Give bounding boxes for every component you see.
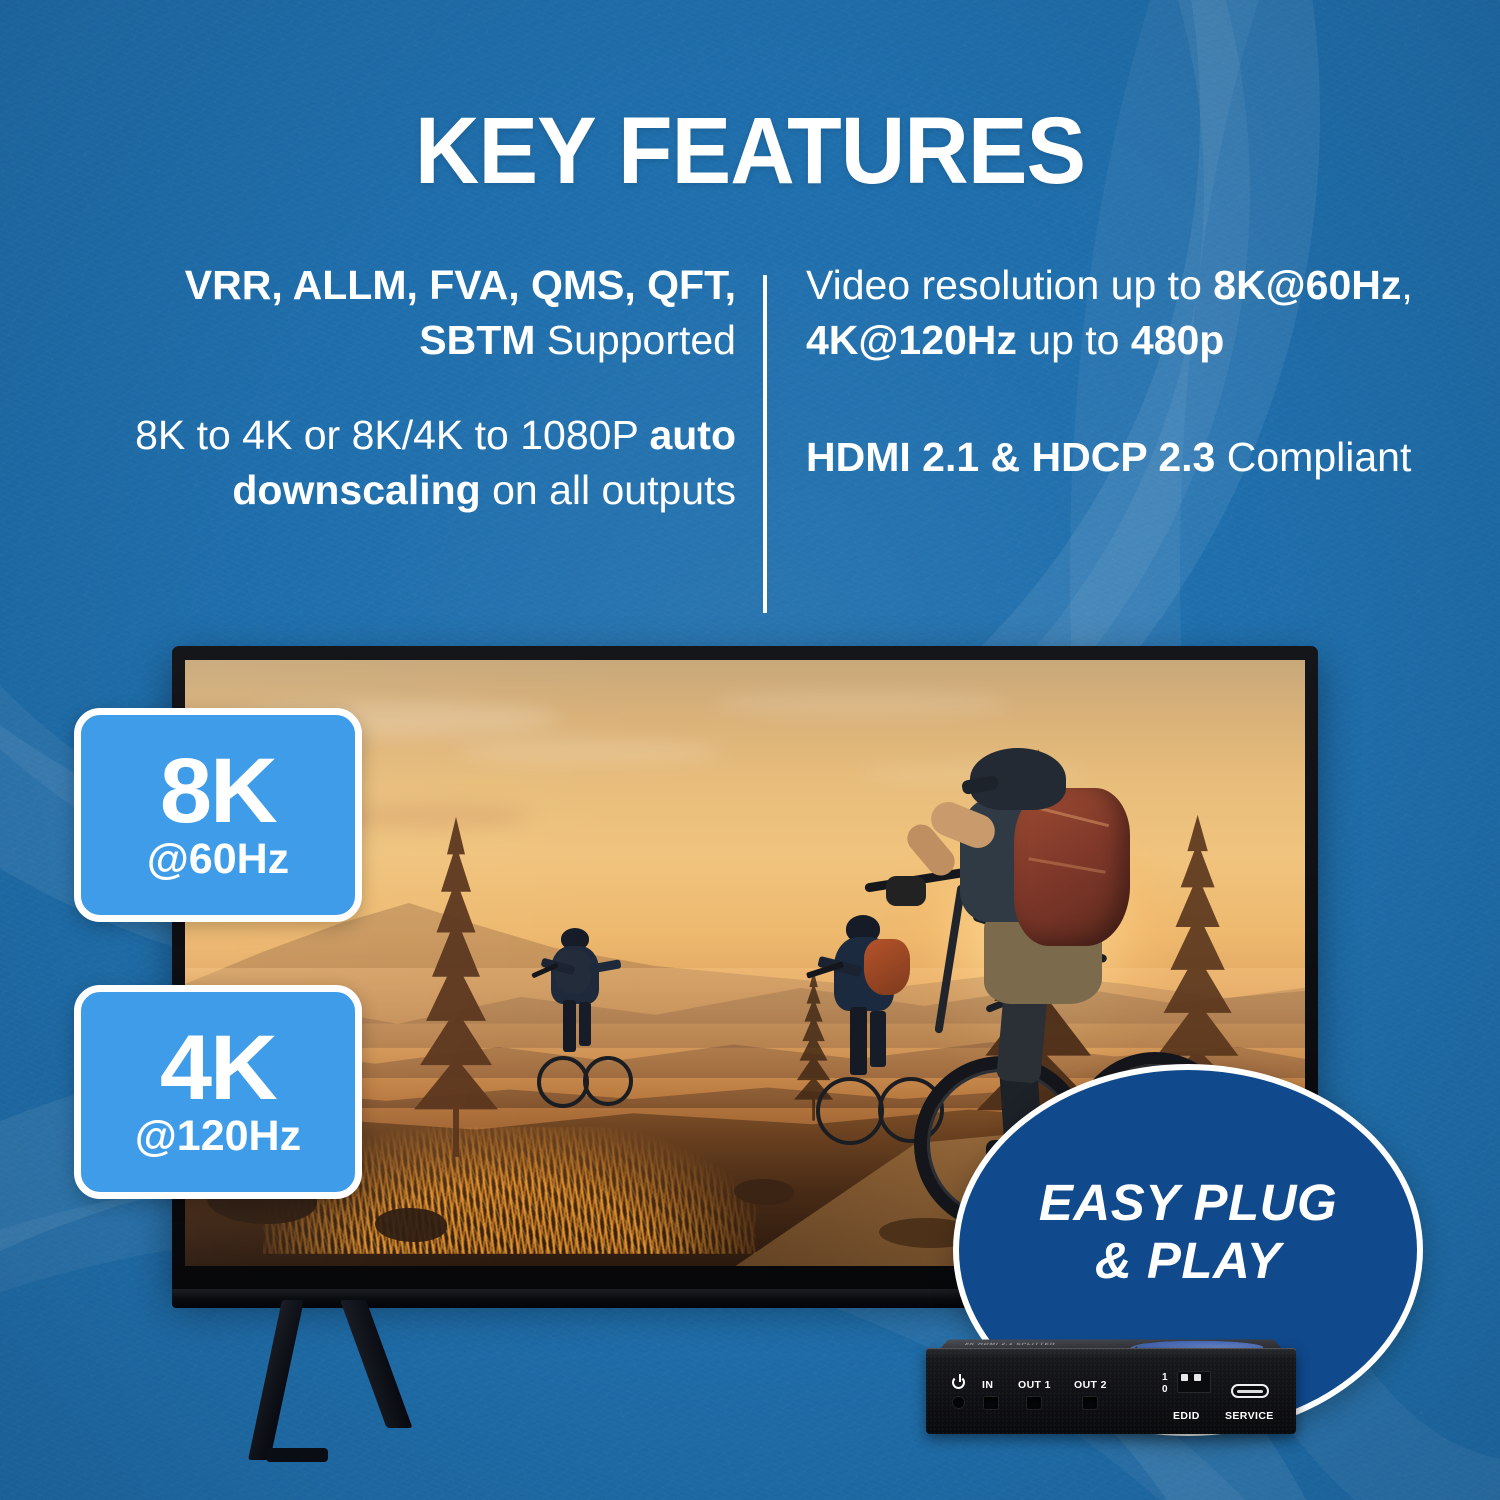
- feature-compliance-rest: Compliant: [1215, 434, 1411, 480]
- power-icon: [952, 1376, 965, 1389]
- badge-4k: 4K @120Hz: [74, 985, 362, 1199]
- feature-downscaling-post: on all outputs: [481, 467, 736, 513]
- feature-compliance: HDMI 2.1 & HDCP 2.3 Compliant: [806, 430, 1426, 485]
- usb-c-port-icon: [1231, 1384, 1269, 1398]
- scene-cloud: [454, 739, 724, 765]
- dip-switch-scale: 1 0: [1162, 1372, 1168, 1395]
- tv-stand-foot: [266, 1448, 328, 1462]
- tv-stand-leg: [340, 1300, 413, 1428]
- feature-resolution-pre: Video resolution up to: [806, 262, 1213, 308]
- feature-protocols-rest: Supported: [535, 317, 736, 363]
- scene-rock: [375, 1208, 447, 1242]
- callout-line-2: & PLAY: [1039, 1232, 1337, 1290]
- badge-8k-refresh: @60Hz: [147, 837, 289, 883]
- feature-column-right: Video resolution up to 8K@60Hz, 4K@120Hz…: [806, 258, 1426, 485]
- tv-stand-leg: [248, 1300, 304, 1460]
- dip-switch: [1177, 1371, 1211, 1393]
- feature-resolution-8k: 8K@60Hz: [1213, 262, 1401, 308]
- device-label-in: IN: [982, 1379, 993, 1391]
- hdmi-port-out2: [1083, 1397, 1097, 1409]
- device-label-edid: EDID: [1173, 1410, 1200, 1422]
- device-label-out1: OUT 1: [1018, 1379, 1051, 1391]
- easy-plug-play-text: EASY PLUG & PLAY: [1039, 1174, 1337, 1289]
- feature-resolution-480p: 480p: [1131, 317, 1224, 363]
- feature-resolution: Video resolution up to 8K@60Hz, 4K@120Hz…: [806, 258, 1426, 368]
- page-title: KEY FEATURES: [45, 104, 1455, 199]
- feature-resolution-upto: up to: [1017, 317, 1131, 363]
- feature-downscaling-pre: 8K to 4K or 8K/4K to 1080P: [135, 412, 649, 458]
- device-label-service: SERVICE: [1225, 1410, 1274, 1422]
- hdmi-port-in: [984, 1397, 998, 1409]
- feature-resolution-4k: 4K@120Hz: [806, 317, 1017, 363]
- badge-4k-resolution: 4K: [160, 1024, 276, 1112]
- device-front-panel: IN OUT 1 OUT 2 1 0 EDID SERVICE: [926, 1348, 1296, 1434]
- hdmi-port-out1: [1027, 1397, 1041, 1409]
- feature-protocols: VRR, ALLM, FVA, QMS, QFT, SBTM Supported: [96, 258, 736, 368]
- dip-switch-label-high: 1: [1162, 1372, 1168, 1384]
- badge-4k-refresh: @120Hz: [135, 1114, 301, 1160]
- callout-line-1: EASY PLUG: [1039, 1174, 1337, 1232]
- column-divider: [763, 275, 767, 613]
- scene-pine-tree: [381, 817, 531, 1157]
- device-top-label: 8K HDMI 2.1 SPLITTER: [964, 1343, 1056, 1346]
- device-label-out2: OUT 2: [1074, 1379, 1107, 1391]
- feature-list: VRR, ALLM, FVA, QMS, QFT, SBTM Supported…: [0, 258, 1500, 618]
- feature-resolution-sep: ,: [1401, 262, 1412, 308]
- badge-8k: 8K @60Hz: [74, 708, 362, 922]
- badge-8k-resolution: 8K: [160, 747, 276, 835]
- feature-compliance-bold: HDMI 2.1 & HDCP 2.3: [806, 434, 1215, 480]
- feature-column-left: VRR, ALLM, FVA, QMS, QFT, SBTM Supported…: [96, 258, 736, 518]
- scene-cyclist: [527, 928, 647, 1108]
- hdmi-splitter-device: 8K HDMI 2.1 SPLITTER IN OUT 1 OUT 2 1 0 …: [926, 1322, 1296, 1434]
- feature-downscaling: 8K to 4K or 8K/4K to 1080P auto downscal…: [96, 408, 736, 518]
- dip-switch-label-low: 0: [1162, 1384, 1168, 1396]
- power-led: [953, 1397, 964, 1408]
